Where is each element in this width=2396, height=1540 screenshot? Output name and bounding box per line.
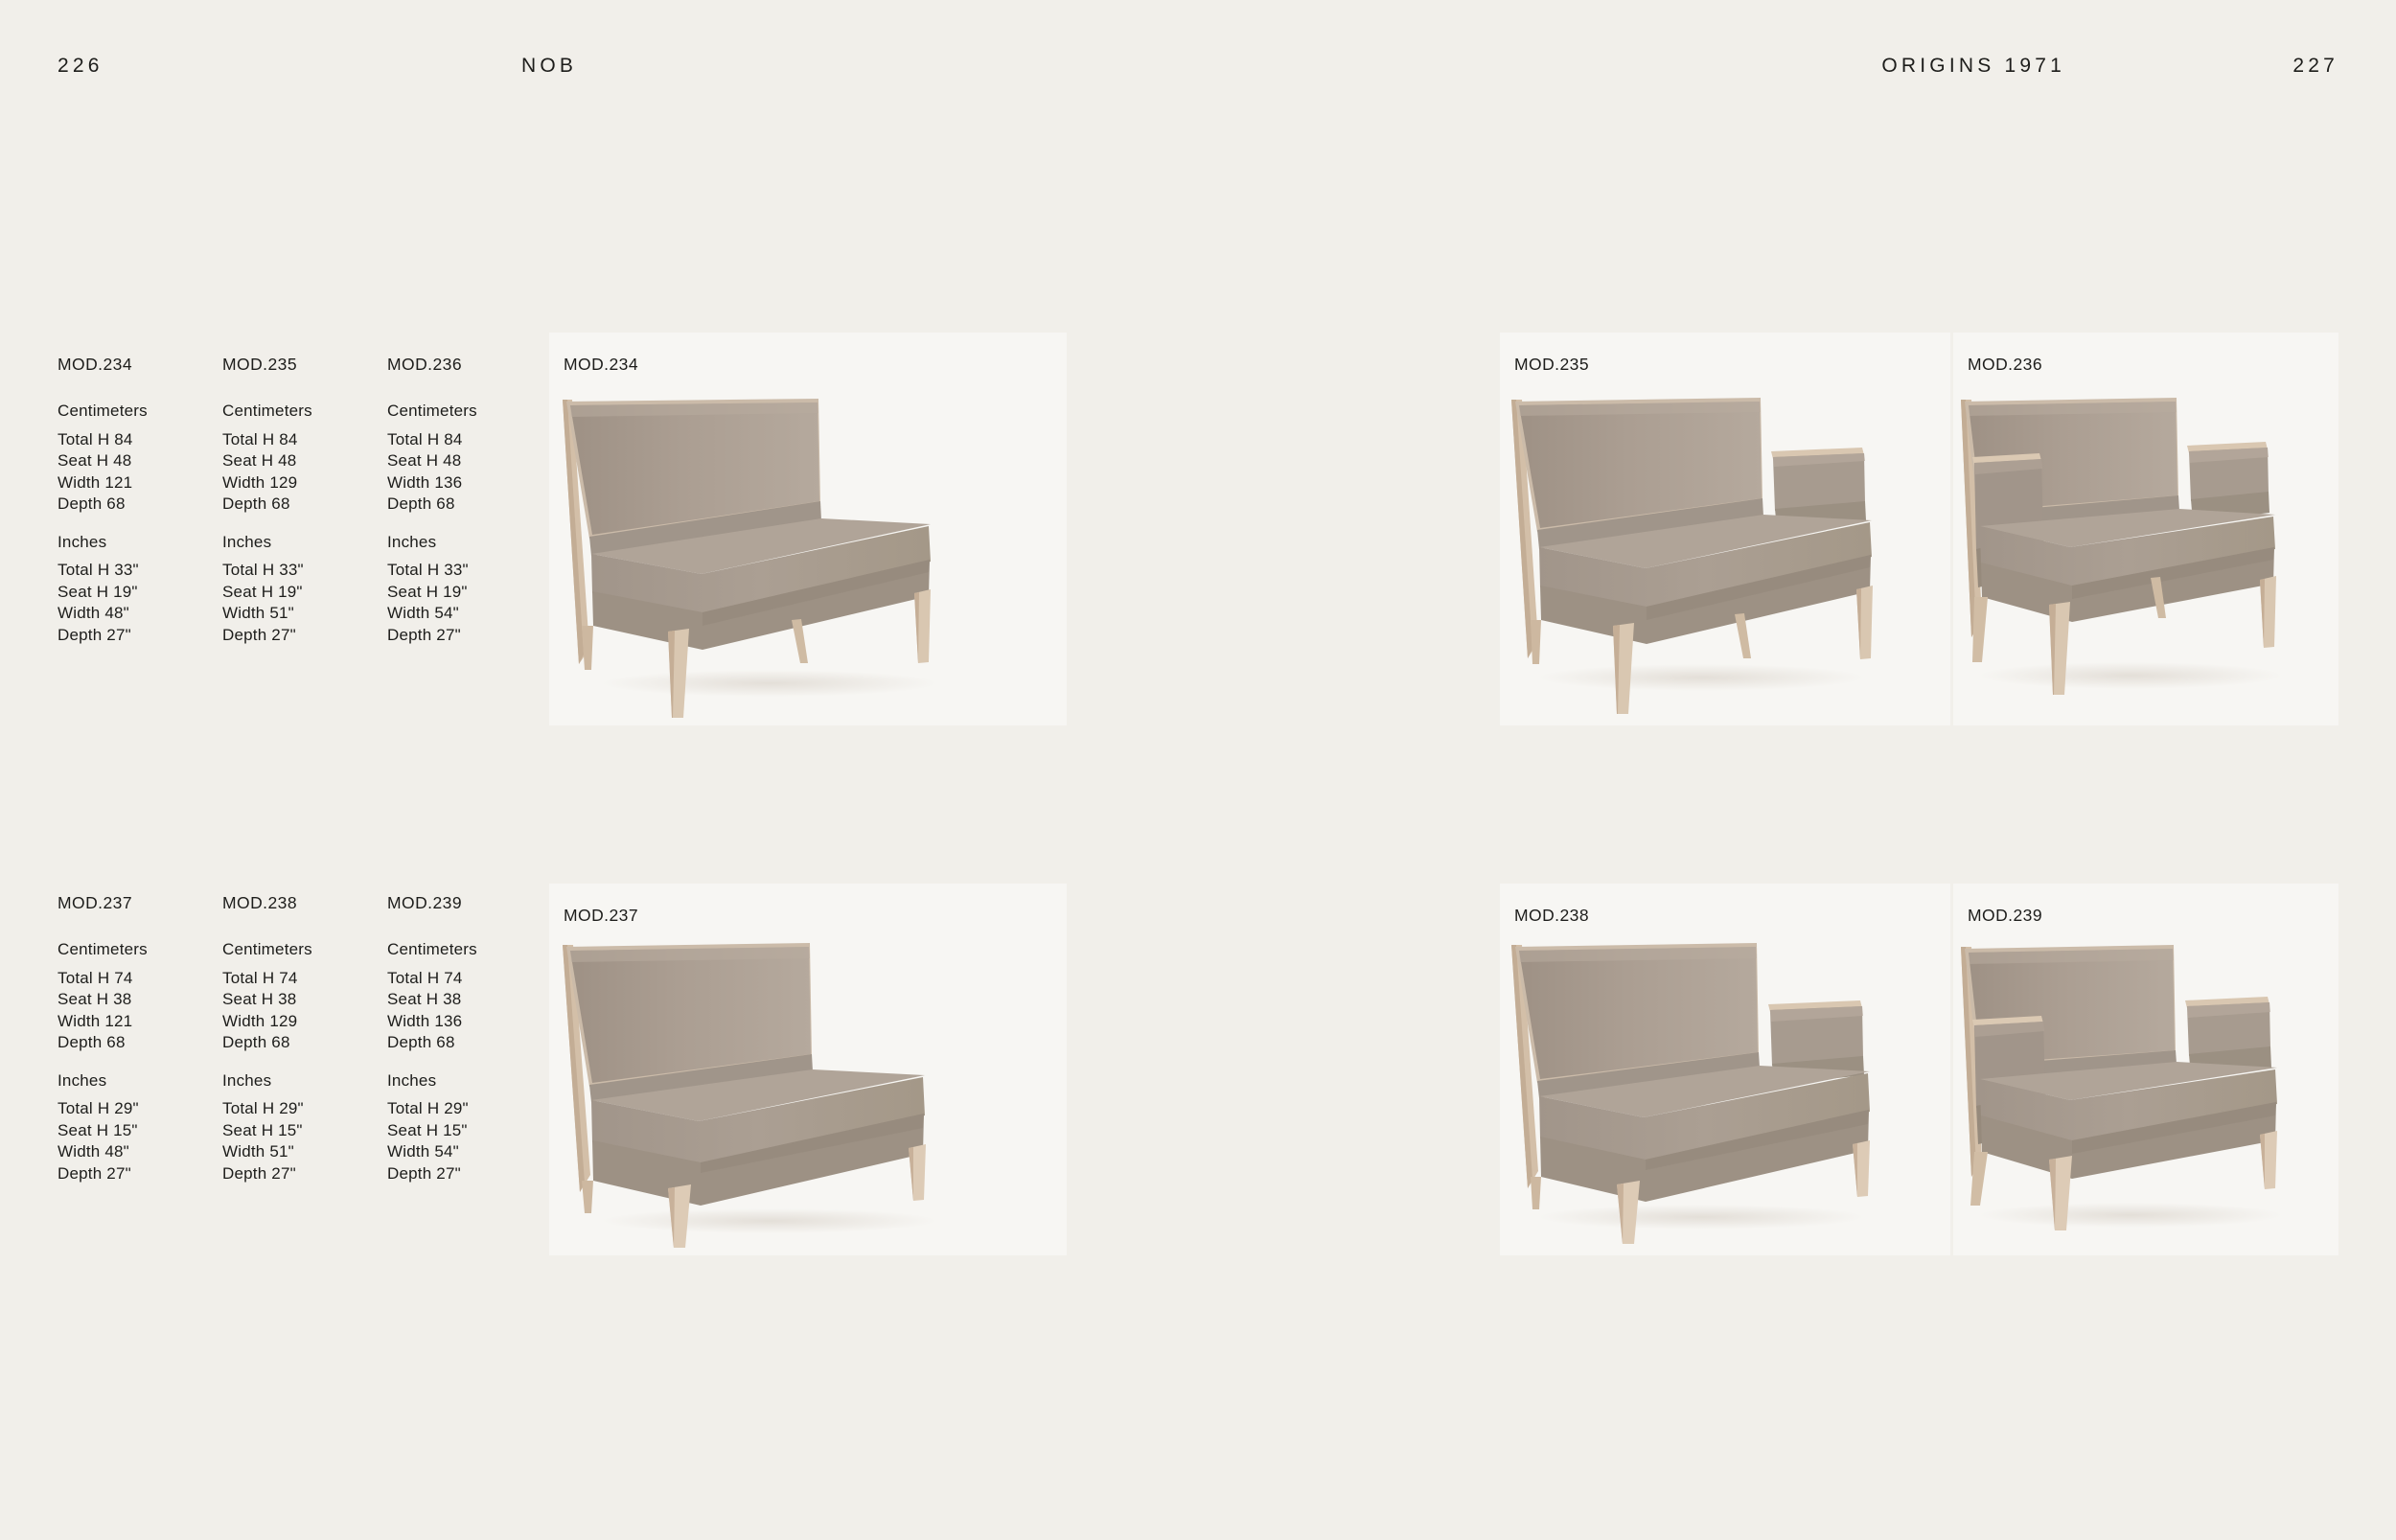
photo-caption: MOD.234	[564, 355, 638, 375]
spec-unit-in: Inches	[222, 533, 387, 552]
spec-width-cm: Width 136	[387, 472, 552, 494]
spec-total-h-cm: Total H 84	[58, 429, 222, 451]
spec-unit-in: Inches	[58, 1071, 222, 1091]
spec-column-mod-238: MOD.238 Centimeters Total H 74 Seat H 38…	[222, 893, 387, 1184]
spec-depth-cm: Depth 68	[222, 1032, 387, 1054]
spec-unit-in: Inches	[222, 1071, 387, 1091]
spec-unit-in: Inches	[387, 533, 552, 552]
spec-column-mod-239: MOD.239 Centimeters Total H 74 Seat H 38…	[387, 893, 552, 1184]
spec-seat-h-cm: Seat H 38	[58, 989, 222, 1011]
spec-total-h-cm: Total H 74	[387, 968, 552, 990]
spec-width-cm: Width 129	[222, 1011, 387, 1033]
spec-spacer	[387, 1054, 552, 1071]
spec-column-mod-237: MOD.237 Centimeters Total H 74 Seat H 38…	[58, 893, 222, 1184]
spec-model-label: MOD.234	[58, 355, 222, 375]
bench-illustration-mod-234	[549, 333, 1067, 725]
spec-spacer	[58, 516, 222, 533]
spec-width-in: Width 54"	[387, 1141, 552, 1163]
chapter-title: NOB	[521, 55, 577, 78]
spec-unit-cm: Centimeters	[58, 402, 222, 421]
spec-unit-cm: Centimeters	[387, 940, 552, 959]
spec-unit-in: Inches	[387, 1071, 552, 1091]
spec-model-label: MOD.238	[222, 893, 387, 913]
spec-total-h-cm: Total H 74	[58, 968, 222, 990]
spec-width-in: Width 51"	[222, 603, 387, 625]
bench-illustration-mod-236	[1953, 333, 2338, 725]
spec-width-in: Width 48"	[58, 603, 222, 625]
product-photo-mod-237[interactable]: MOD.237	[549, 884, 1067, 1255]
spec-depth-cm: Depth 68	[58, 1032, 222, 1054]
spec-block-top: MOD.234 Centimeters Total H 84 Seat H 48…	[58, 355, 552, 646]
spec-spacer	[58, 1054, 222, 1071]
spec-width-in: Width 48"	[58, 1141, 222, 1163]
spec-seat-h-in: Seat H 19"	[387, 582, 552, 604]
spec-total-h-cm: Total H 84	[387, 429, 552, 451]
spec-spacer	[387, 516, 552, 533]
spec-width-in: Width 54"	[387, 603, 552, 625]
photo-caption: MOD.237	[564, 906, 638, 926]
folio-right: 227	[2292, 55, 2338, 78]
photo-caption: MOD.236	[1968, 355, 2042, 375]
spec-depth-cm: Depth 68	[387, 494, 552, 516]
spec-depth-cm: Depth 68	[222, 494, 387, 516]
spec-width-in: Width 51"	[222, 1141, 387, 1163]
spec-depth-in: Depth 27"	[58, 1163, 222, 1185]
spec-seat-h-in: Seat H 19"	[222, 582, 387, 604]
spec-total-h-cm: Total H 84	[222, 429, 387, 451]
photo-caption: MOD.235	[1514, 355, 1589, 375]
spec-seat-h-cm: Seat H 48	[58, 450, 222, 472]
product-photo-mod-236[interactable]: MOD.236	[1953, 333, 2338, 725]
bench-illustration-mod-235	[1500, 333, 1950, 725]
folio-left: 226	[58, 55, 104, 78]
spec-unit-cm: Centimeters	[222, 402, 387, 421]
spec-column-mod-234: MOD.234 Centimeters Total H 84 Seat H 48…	[58, 355, 222, 646]
bench-illustration-mod-237	[549, 884, 1067, 1255]
product-photo-mod-234[interactable]: MOD.234	[549, 333, 1067, 725]
collection-name: ORIGINS 1971	[1881, 55, 2065, 78]
spec-seat-h-cm: Seat H 48	[222, 450, 387, 472]
spec-width-cm: Width 121	[58, 472, 222, 494]
spec-total-h-in: Total H 33"	[58, 560, 222, 582]
spec-width-cm: Width 129	[222, 472, 387, 494]
spec-seat-h-in: Seat H 15"	[387, 1120, 552, 1142]
photo-caption: MOD.238	[1514, 906, 1589, 926]
spec-model-label: MOD.239	[387, 893, 552, 913]
spec-depth-in: Depth 27"	[387, 625, 552, 647]
spec-model-label: MOD.235	[222, 355, 387, 375]
spec-model-label: MOD.236	[387, 355, 552, 375]
spec-seat-h-cm: Seat H 38	[387, 989, 552, 1011]
spec-unit-cm: Centimeters	[222, 940, 387, 959]
spec-total-h-in: Total H 29"	[58, 1098, 222, 1120]
spec-total-h-in: Total H 33"	[387, 560, 552, 582]
spec-unit-cm: Centimeters	[387, 402, 552, 421]
product-photo-mod-238[interactable]: MOD.238	[1500, 884, 1950, 1255]
spec-spacer	[222, 1054, 387, 1071]
spec-column-mod-235: MOD.235 Centimeters Total H 84 Seat H 48…	[222, 355, 387, 646]
spec-width-cm: Width 121	[58, 1011, 222, 1033]
spec-spacer	[222, 516, 387, 533]
spec-seat-h-cm: Seat H 38	[222, 989, 387, 1011]
spec-depth-cm: Depth 68	[387, 1032, 552, 1054]
spec-depth-in: Depth 27"	[58, 625, 222, 647]
spec-column-mod-236: MOD.236 Centimeters Total H 84 Seat H 48…	[387, 355, 552, 646]
product-photo-mod-239[interactable]: MOD.239	[1953, 884, 2338, 1255]
spec-unit-cm: Centimeters	[58, 940, 222, 959]
running-header: 226 NOB ORIGINS 1971 227	[0, 0, 2396, 96]
spec-depth-in: Depth 27"	[222, 1163, 387, 1185]
product-photo-mod-235[interactable]: MOD.235	[1500, 333, 1950, 725]
spec-total-h-in: Total H 29"	[387, 1098, 552, 1120]
spec-seat-h-cm: Seat H 48	[387, 450, 552, 472]
spec-total-h-cm: Total H 74	[222, 968, 387, 990]
catalog-spread: 226 NOB ORIGINS 1971 227 MOD.234 Centime…	[0, 0, 2396, 1540]
bench-illustration-mod-238	[1500, 884, 1950, 1255]
spec-total-h-in: Total H 33"	[222, 560, 387, 582]
spec-depth-cm: Depth 68	[58, 494, 222, 516]
bench-illustration-mod-239	[1953, 884, 2338, 1255]
spec-depth-in: Depth 27"	[387, 1163, 552, 1185]
photo-caption: MOD.239	[1968, 906, 2042, 926]
spec-width-cm: Width 136	[387, 1011, 552, 1033]
spec-seat-h-in: Seat H 19"	[58, 582, 222, 604]
spec-model-label: MOD.237	[58, 893, 222, 913]
spec-total-h-in: Total H 29"	[222, 1098, 387, 1120]
spec-depth-in: Depth 27"	[222, 625, 387, 647]
spec-block-bottom: MOD.237 Centimeters Total H 74 Seat H 38…	[58, 893, 552, 1184]
spec-seat-h-in: Seat H 15"	[58, 1120, 222, 1142]
spec-seat-h-in: Seat H 15"	[222, 1120, 387, 1142]
spec-unit-in: Inches	[58, 533, 222, 552]
